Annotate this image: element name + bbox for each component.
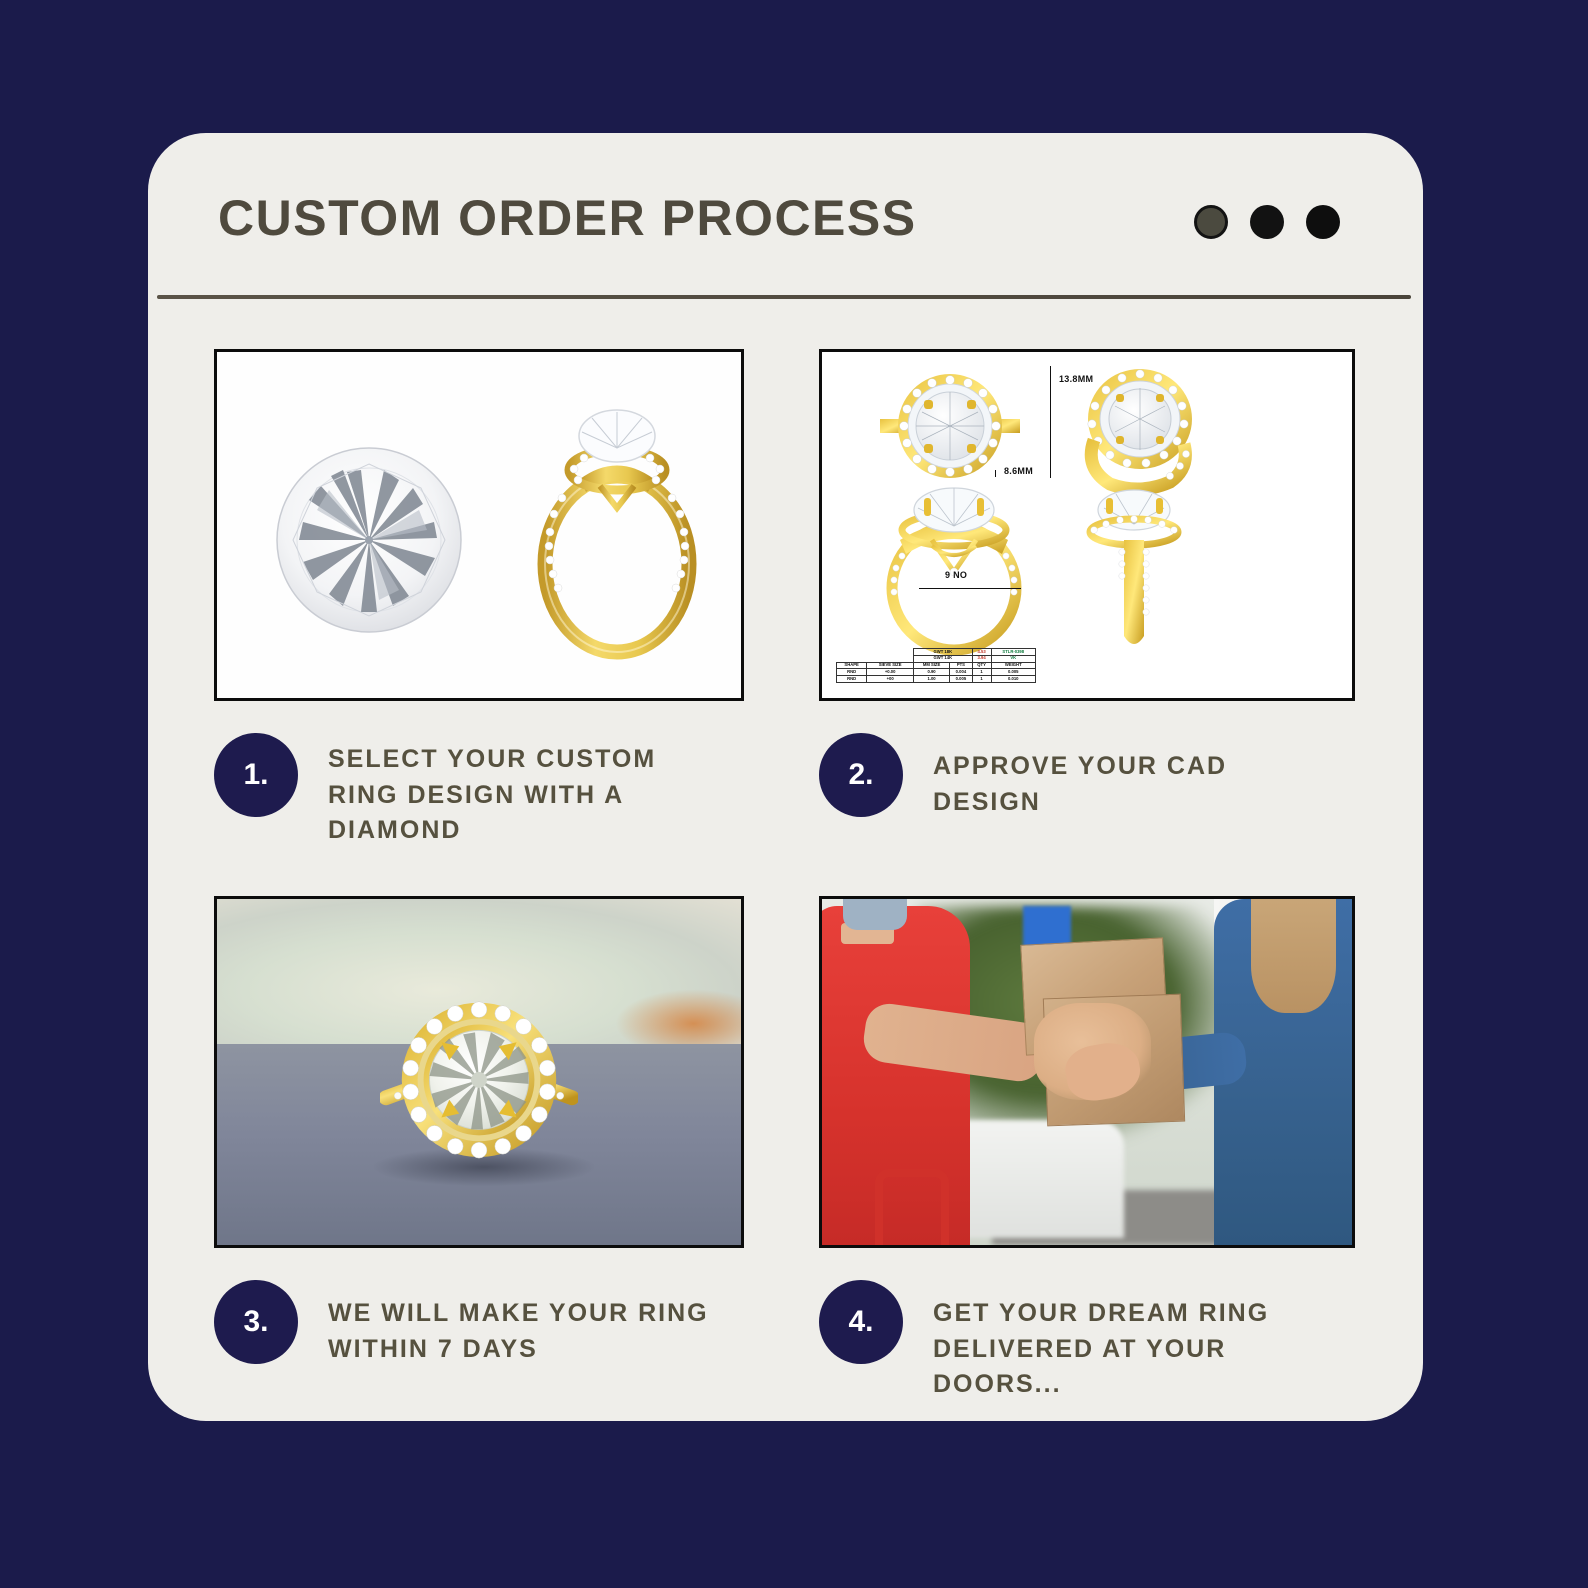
cad-cell: +00 — [867, 676, 914, 683]
cad-sheet: 13.8MM 8.6MM 9 NO GWT 18K 4.53 — [822, 352, 1352, 698]
cad-top-view-icon — [880, 364, 1020, 494]
cad-cell: +0.00 — [867, 669, 914, 676]
step-4-number-badge: 4. — [819, 1280, 903, 1364]
cad-gwt14k-label: GWT 14K — [913, 655, 972, 662]
cad-th-mm: MM SIZE — [913, 662, 949, 669]
cad-th-qty: QTY — [972, 662, 991, 669]
window-dot-olive-icon[interactable] — [1194, 205, 1228, 239]
round-diamond-icon — [269, 440, 469, 640]
finished-halo-ring-icon — [380, 981, 578, 1179]
cad-th-weight: WEIGHT — [991, 662, 1035, 669]
cad-ring-size-line — [919, 588, 1021, 589]
steps-grid: 1. SELECT YOUR CUSTOM RING DESIGN WITH A… — [214, 349, 1360, 1379]
header-divider — [157, 295, 1411, 299]
step-2-caption: APPROVE YOUR CAD DESIGN — [933, 733, 1333, 820]
step-1-caption-row: 1. SELECT YOUR CUSTOM RING DESIGN WITH A… — [214, 733, 752, 849]
browser-card: CUSTOM ORDER PROCESS — [148, 133, 1423, 1421]
cad-height-dimension-line — [1050, 366, 1051, 478]
step-3-caption: WE WILL MAKE YOUR RING WITHIN 7 DAYS — [328, 1280, 718, 1367]
cad-th-shape: SHAPE — [837, 662, 867, 669]
cad-height-dimension-label: 13.8MM — [1059, 374, 1093, 384]
step-2-image: 13.8MM 8.6MM 9 NO GWT 18K 4.53 — [819, 349, 1355, 701]
courier-face-mask-icon — [843, 899, 907, 930]
card-header: CUSTOM ORDER PROCESS — [218, 181, 1358, 271]
page-root: CUSTOM ORDER PROCESS — [0, 0, 1588, 1588]
cad-th-pts: PTS — [950, 662, 973, 669]
step-2-caption-row: 2. APPROVE YOUR CAD DESIGN — [819, 733, 1357, 820]
step-2-number-badge: 2. — [819, 733, 903, 817]
photo-hand-trolley — [875, 1169, 949, 1245]
page-title: CUSTOM ORDER PROCESS — [218, 189, 917, 247]
step-4-caption: GET YOUR DREAM RING DELIVERED AT YOUR DO… — [933, 1280, 1333, 1403]
step-item-4: 4. GET YOUR DREAM RING DELIVERED AT YOUR… — [819, 896, 1357, 1403]
step-1-image — [214, 349, 744, 701]
step-item-3: 3. WE WILL MAKE YOUR RING WITHIN 7 DAYS — [214, 896, 752, 1367]
window-dots — [1194, 205, 1340, 239]
step-item-2: 13.8MM 8.6MM 9 NO GWT 18K 4.53 — [819, 349, 1357, 820]
cad-initials: VK — [991, 655, 1035, 662]
cad-ring-size-label: 9 NO — [945, 570, 967, 580]
cad-gwt18k-label: GWT 18K — [913, 649, 972, 656]
cad-cell: 1 — [972, 669, 991, 676]
step-4-image — [819, 896, 1355, 1248]
cad-cell: 0.004 — [950, 669, 973, 676]
cad-profile-view-icon — [1074, 480, 1194, 658]
cad-gwt18k-value: 4.53 — [972, 649, 991, 656]
cad-cell: 1.00 — [913, 676, 949, 683]
cad-width-tick-left — [995, 470, 996, 477]
cad-width-dimension-label: 8.6MM — [1004, 466, 1033, 476]
step-1-caption: SELECT YOUR CUSTOM RING DESIGN WITH A DI… — [328, 733, 718, 849]
cad-cell: RND — [837, 669, 867, 676]
cad-table-row: RND +0.00 0.90 0.004 1 0.005 — [837, 669, 1036, 676]
step-3-image — [214, 896, 744, 1248]
cad-front-view-icon — [874, 480, 1034, 655]
halo-ring-side-view-icon — [522, 374, 712, 664]
cad-spec-table: GWT 18K 4.53 STLR-0398 GWT 14K 3.94 VK — [836, 648, 1036, 683]
step-item-1: 1. SELECT YOUR CUSTOM RING DESIGN WITH A… — [214, 349, 752, 849]
window-dot-black-icon[interactable] — [1250, 205, 1284, 239]
step-3-number-badge: 3. — [214, 1280, 298, 1364]
cad-cell: 0.005 — [950, 676, 973, 683]
cad-th-sieve: SIEVE SIZE — [867, 662, 914, 669]
customer-hair — [1251, 896, 1336, 1013]
cad-cell: 0.005 — [991, 669, 1035, 676]
cad-gwt14k-value: 3.94 — [972, 655, 991, 662]
step-3-caption-row: 3. WE WILL MAKE YOUR RING WITHIN 7 DAYS — [214, 1280, 752, 1367]
step-4-caption-row: 4. GET YOUR DREAM RING DELIVERED AT YOUR… — [819, 1280, 1357, 1403]
cad-table-row: RND +00 1.00 0.005 1 0.010 — [837, 676, 1036, 683]
step-1-number-badge: 1. — [214, 733, 298, 817]
cad-design-code: STLR-0398 — [991, 649, 1035, 656]
cad-cell: 0.010 — [991, 676, 1035, 683]
cad-cell: RND — [837, 676, 867, 683]
cad-cell: 0.90 — [913, 669, 949, 676]
window-dot-black-icon[interactable] — [1306, 205, 1340, 239]
cad-cell: 1 — [972, 676, 991, 683]
